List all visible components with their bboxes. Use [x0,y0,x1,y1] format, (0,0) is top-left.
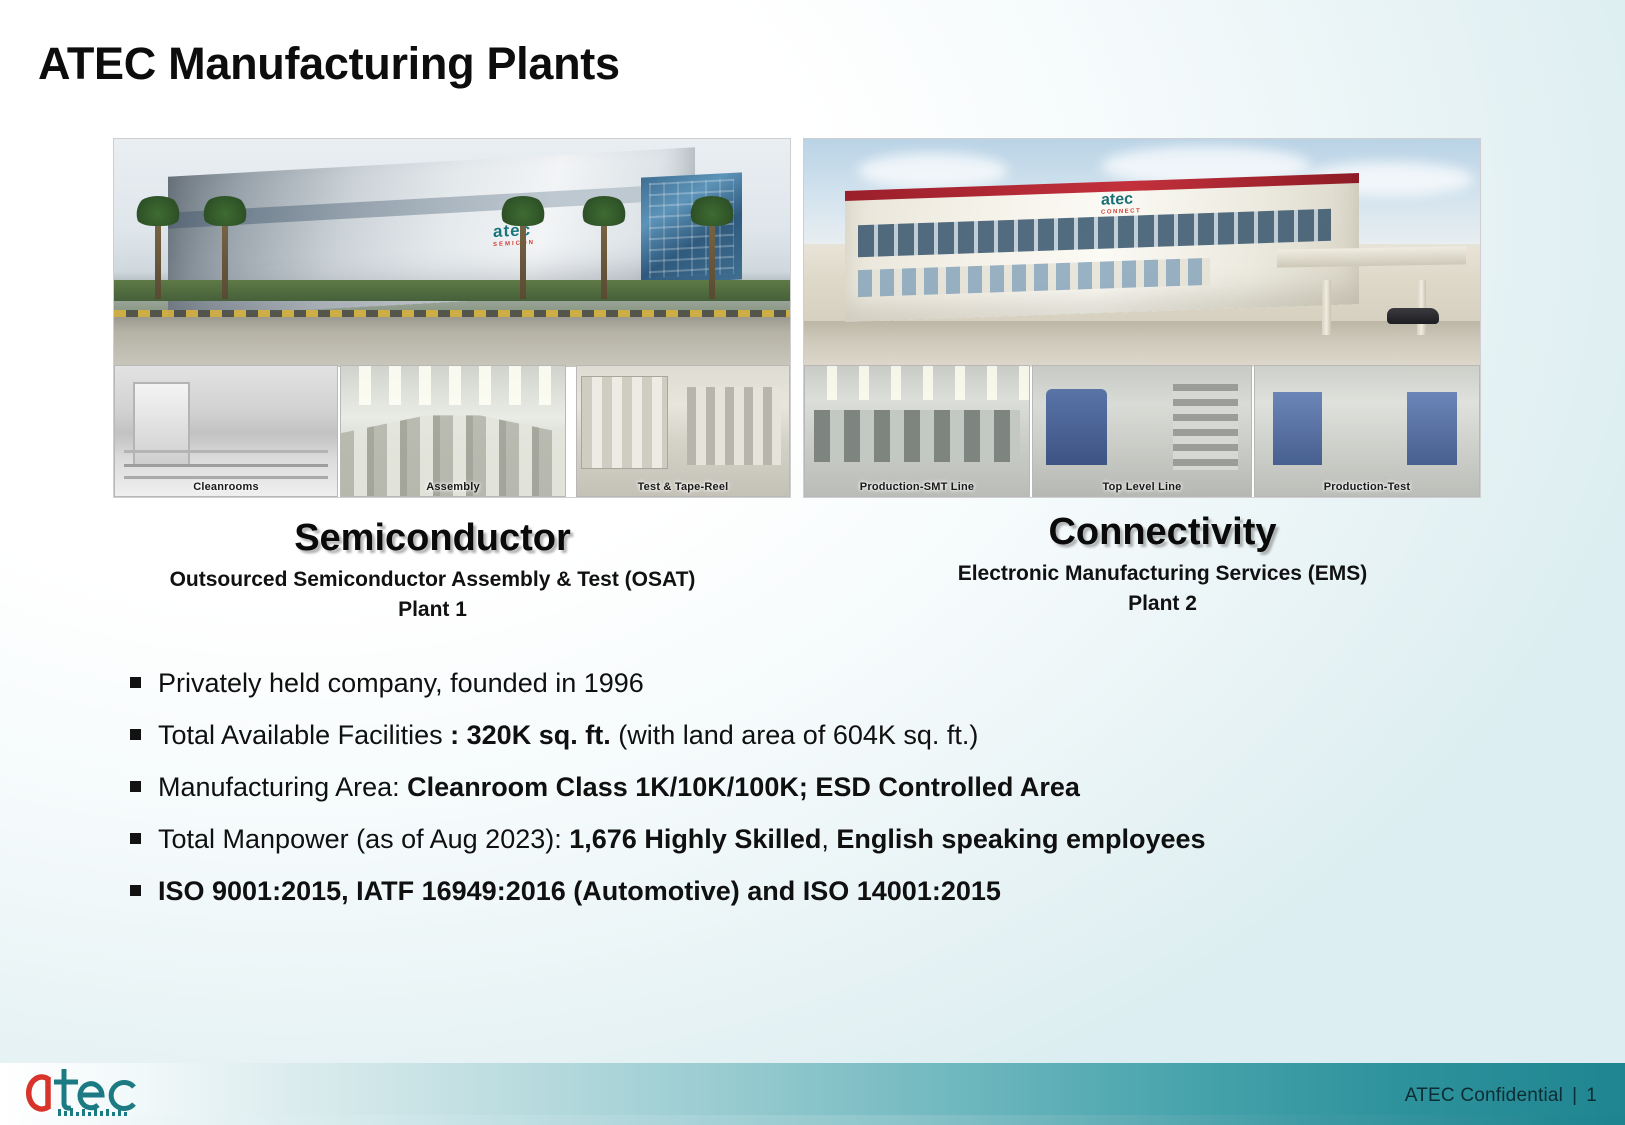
fact-bullet-item: Privately held company, founded in 1996 [130,668,1550,699]
bullet-plain: , [821,824,836,854]
confidential-label: ATEC Confidential [1405,1085,1563,1106]
atec-logo-icon [18,1057,148,1119]
fact-bullet-item: Total Available Facilities : 320K sq. ft… [130,720,1550,751]
hero-photo-connectivity-plant: atec CONNECT [804,139,1480,367]
cloud-shape [858,153,1008,189]
bullet-square-icon [130,885,141,896]
bullet-square-icon [130,833,141,844]
building-logo-text: atec [1101,191,1133,209]
footer-accent-strip [0,1115,1625,1125]
glass-facade [641,173,742,285]
section-subtitle-line2: Plant 2 [860,589,1465,619]
thumbnail-caption: Assembly [341,481,565,493]
bullet-plain: Total Manpower (as of Aug 2023): [158,824,569,854]
section-subtitle-line1: Electronic Manufacturing Services (EMS) [860,559,1465,589]
thumbnail-image [1033,366,1251,496]
slide: ATEC Manufacturing Plants atec SEMICON C… [0,0,1625,1125]
bullet-emphasis: Cleanroom Class 1K/10K/100K; ESD Control… [407,772,1080,802]
section-connectivity: Connectivity Electronic Manufacturing Se… [860,512,1465,620]
parked-car [1387,308,1439,324]
section-subtitle-line2: Plant 1 [95,595,770,625]
page-title: ATEC Manufacturing Plants [38,38,620,90]
bullet-square-icon [130,729,141,740]
palm-tree-icon [520,212,526,299]
fact-bullet-item: ISO 9001:2015, IATF 16949:2016 (Automoti… [130,876,1550,907]
bullet-square-icon [130,677,141,688]
hero-photo-semiconductor-plant: atec SEMICON [114,139,790,367]
bullet-emphasis: 1,676 Highly Skilled [569,824,821,854]
palm-tree-icon [155,212,161,299]
bullet-emphasis: English speaking employees [836,824,1205,854]
ground [804,321,1480,367]
fact-bullet-text: Total Available Facilities : 320K sq. ft… [158,720,978,751]
curb-stripe [114,310,790,317]
thumbnail-cleanrooms: Cleanrooms [114,365,338,497]
thumbnail-caption: Production-Test [1255,481,1479,493]
section-title: Semiconductor [95,518,770,560]
thumbnail-image [115,366,337,496]
footer-bar: ATEC Confidential|1 [0,1063,1625,1125]
fact-bullet-item: Total Manpower (as of Aug 2023): 1,676 H… [130,824,1550,855]
section-subtitle: Electronic Manufacturing Services (EMS) … [860,559,1465,620]
footer-separator: | [1572,1085,1577,1106]
thumbnail-image [577,366,789,496]
thumbnail-top-level-line: Top Level Line [1032,365,1252,497]
bullet-square-icon [130,781,141,792]
section-subtitle-line1: Outsourced Semiconductor Assembly & Test… [95,565,770,595]
thumbnail-image [341,366,565,496]
fact-bullet-text: Manufacturing Area: Cleanroom Class 1K/1… [158,772,1080,803]
thumbnail-caption: Cleanrooms [115,481,337,493]
thumbnail-strip-semiconductor: Cleanrooms Assembly Test & Tape-Reel [114,365,790,497]
thumbnail-test-tape-reel: Test & Tape-Reel [576,365,790,497]
thumbnail-production-smt-line: Production-SMT Line [804,365,1030,497]
building-logo: atec CONNECT [1101,191,1141,216]
palm-tree-icon [709,212,715,299]
section-subtitle: Outsourced Semiconductor Assembly & Test… [95,565,770,626]
entrance-canopy [1277,247,1466,269]
bullet-emphasis: ISO 9001:2015, IATF 16949:2016 (Automoti… [158,876,1001,906]
section-title: Connectivity [860,512,1465,554]
fact-bullet-text: Privately held company, founded in 1996 [158,668,644,699]
fact-bullet-text: ISO 9001:2015, IATF 16949:2016 (Automoti… [158,876,1001,907]
thumbnail-production-test: Production-Test [1254,365,1480,497]
thumbnail-caption: Test & Tape-Reel [577,481,789,493]
thumbnail-caption: Production-SMT Line [805,481,1029,493]
footer-confidential: ATEC Confidential|1 [1405,1085,1597,1107]
fact-bullet-list: Privately held company, founded in 1996T… [130,668,1550,928]
thumbnail-assembly: Assembly [340,365,566,497]
thumbnail-caption: Top Level Line [1033,481,1251,493]
bullet-plain: (with land area of 604K sq. ft.) [611,720,979,750]
section-semiconductor: Semiconductor Outsourced Semiconductor A… [95,518,770,626]
atec-logo [18,1057,148,1119]
page-number: 1 [1586,1085,1597,1106]
thumbnail-image [1255,366,1479,496]
panel-semiconductor: atec SEMICON Cleanrooms Assembly [113,138,791,498]
panel-connectivity: atec CONNECT Production-SMT Line Top Lev… [803,138,1481,498]
fact-bullet-text: Total Manpower (as of Aug 2023): 1,676 H… [158,824,1206,855]
palm-tree-icon [601,212,607,299]
bullet-plain: Manufacturing Area: [158,772,407,802]
thumbnail-strip-connectivity: Production-SMT Line Top Level Line Produ… [804,365,1480,497]
bullet-plain: Total Available Facilities [158,720,450,750]
hedge-row [114,280,790,301]
road [114,317,790,367]
fact-bullet-item: Manufacturing Area: Cleanroom Class 1K/1… [130,772,1550,803]
bullet-emphasis: : 320K sq. ft. [450,720,611,750]
thumbnail-image [805,366,1029,496]
canopy-pillar [1322,280,1331,335]
palm-tree-icon [222,212,228,299]
bullet-plain: Privately held company, founded in 1996 [158,668,644,698]
